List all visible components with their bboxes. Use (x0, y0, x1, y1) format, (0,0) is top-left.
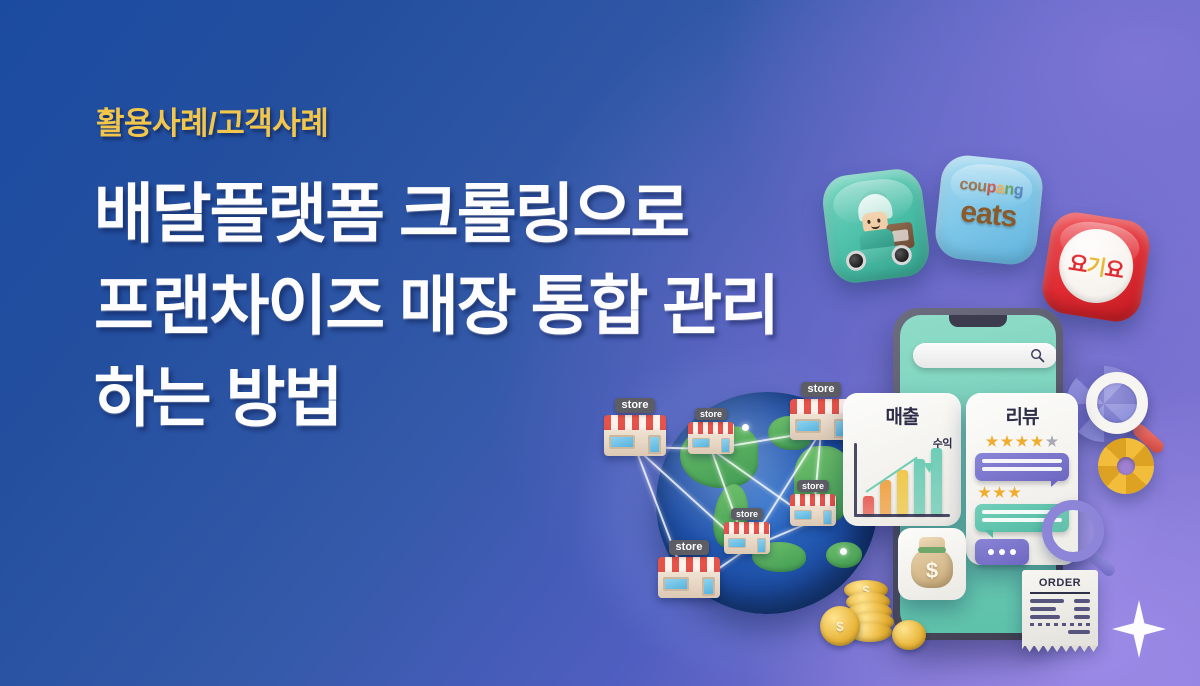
store-label: store (731, 508, 763, 520)
star-filled-icon (978, 486, 991, 499)
magnifier-ring (1042, 500, 1104, 562)
receipt-row (1030, 607, 1090, 611)
search-input[interactable] (913, 343, 1056, 368)
star-filled-icon (993, 486, 1006, 499)
sales-card-title: 매출 (851, 402, 953, 429)
store-marker: store (688, 408, 734, 454)
receipt-total-line (1068, 630, 1090, 634)
chart-bar (863, 496, 874, 514)
store-awning (604, 415, 666, 430)
receipt-row (1030, 630, 1090, 634)
store-window (795, 419, 821, 433)
sales-card: 매출 수익 (843, 393, 961, 526)
page-title: 배달플랫폼 크롤링으로 프랜차이즈 매장 통합 관리 하는 방법 (94, 168, 778, 444)
chart-x-axis (854, 514, 950, 517)
receipt-line (1030, 607, 1056, 611)
coin-stack: $$ (806, 568, 926, 652)
receipt-line (1030, 599, 1064, 603)
store-label: store (615, 398, 656, 413)
store-body (658, 572, 720, 598)
receipt-title: ORDER (1030, 577, 1090, 589)
chart-bar (897, 470, 908, 514)
bubble-text-line (982, 459, 1062, 463)
typing-dot (1010, 549, 1016, 555)
receipt-line (1074, 615, 1090, 619)
store-door (721, 438, 730, 453)
store-marker: store (724, 508, 770, 554)
coin-icon: $ (820, 606, 860, 646)
store-window (609, 435, 635, 449)
app-icon-yogiyo: 요기요 (1039, 209, 1154, 325)
rating-stars-row (978, 486, 1070, 499)
store-awning (688, 422, 734, 434)
headline-line-2: 프랜차이즈 매장 통합 관리 (94, 260, 778, 352)
store-awning (658, 557, 720, 572)
receipt-zigzag-edge (1022, 645, 1098, 652)
store-awning (724, 522, 770, 534)
star-filled-icon (1001, 435, 1014, 448)
chart-bar (880, 480, 891, 514)
money-bag-tie (918, 547, 946, 553)
network-node (742, 424, 749, 431)
eyebrow-label: 활용사례/고객사례 (96, 98, 328, 143)
receipt-rule (1030, 592, 1090, 594)
typing-dot (999, 549, 1005, 555)
app-icon-baemin (820, 166, 932, 285)
review-card-title: 리뷰 (974, 402, 1070, 429)
rating-stars-row (974, 435, 1070, 448)
receipt-line (1074, 599, 1090, 603)
star-empty-icon (1046, 435, 1059, 448)
app-icon-coupang-eats: coupang eats (933, 153, 1045, 267)
store-door (702, 577, 715, 596)
bubble-tail (984, 530, 993, 538)
store-marker: store (604, 398, 666, 456)
bubble-text-line (982, 467, 1062, 471)
star-filled-icon (1008, 486, 1021, 499)
typing-dot (988, 549, 994, 555)
store-door (823, 510, 832, 525)
chart-bar (931, 448, 942, 514)
search-icon (1030, 348, 1045, 368)
star-filled-icon (1031, 435, 1044, 448)
store-label: store (669, 540, 710, 555)
sparkle-icon (1112, 600, 1166, 658)
review-bubble (975, 453, 1069, 481)
store-window (692, 438, 710, 448)
star-filled-icon (1016, 435, 1029, 448)
banner-thumbnail: 활용사례/고객사례 배달플랫폼 크롤링으로 프랜차이즈 매장 통합 관리 하는 … (0, 0, 1200, 686)
magnifier-ring (1086, 372, 1148, 434)
headline-line-3: 하는 방법 (94, 352, 778, 444)
store-door (648, 435, 661, 454)
headline-line-1: 배달플랫폼 크롤링으로 (94, 168, 778, 260)
store-body (724, 534, 770, 554)
store-window (728, 538, 746, 548)
receipt-row (1030, 615, 1090, 619)
coin-icon (892, 620, 926, 650)
gear-icon (1098, 438, 1154, 494)
store-window (663, 577, 689, 591)
receipt-row (1030, 599, 1090, 603)
store-marker: store (790, 480, 836, 526)
receipt-dashed-line (1030, 623, 1090, 626)
store-body (790, 506, 836, 526)
store-label: store (695, 408, 727, 420)
receipt-line (1030, 615, 1060, 619)
network-node (840, 548, 847, 555)
trend-arrow-line (865, 457, 918, 493)
coin-symbol: $ (820, 606, 860, 646)
store-label: store (801, 382, 842, 397)
star-filled-icon (986, 435, 999, 448)
typing-bubble (975, 539, 1029, 565)
store-awning (790, 494, 836, 506)
sales-bar-chart (854, 443, 950, 517)
order-receipt: ORDER (1022, 570, 1098, 646)
chart-y-axis (854, 443, 857, 517)
phone-notch (949, 315, 1007, 327)
store-body (688, 434, 734, 454)
store-door (757, 538, 766, 553)
store-body (604, 430, 666, 456)
chart-bar (914, 459, 925, 514)
delivery-bag-logo (892, 229, 909, 242)
magnifier-icon (1086, 372, 1148, 434)
magnifier-icon (1042, 500, 1104, 562)
store-label: store (797, 480, 829, 492)
receipt-line (1074, 607, 1090, 611)
globe-landmass (826, 542, 862, 568)
store-window (794, 510, 812, 520)
bubble-tail (1051, 479, 1060, 487)
store-marker: store (658, 540, 720, 598)
gear-center-hole (1117, 457, 1135, 475)
